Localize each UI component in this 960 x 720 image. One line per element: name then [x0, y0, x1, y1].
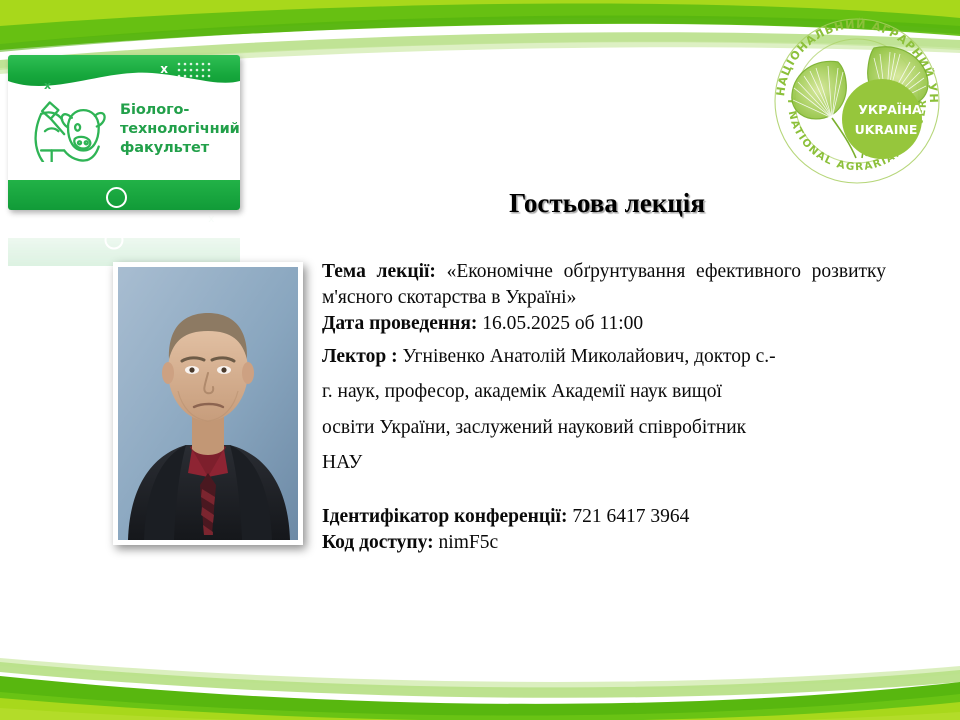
seal-inner-line1: УКРАЇНА	[858, 102, 922, 117]
conference-id-row: Ідентифікатор конференції: 721 6417 3964	[322, 504, 886, 530]
portrait-artwork	[118, 267, 298, 540]
lecture-info-block: Тема лекції: «Економічне обґрунтування е…	[322, 259, 886, 556]
page-title: Гостьова лекція	[322, 188, 892, 219]
faculty-logo: x x x	[8, 55, 240, 210]
reflection-shape: x	[8, 208, 240, 266]
lecturer-line-2: г. наук, професор, академік Академії нау…	[322, 374, 886, 409]
faculty-logo-line1: Біолого-	[120, 101, 232, 120]
seal-inner-circle	[842, 79, 922, 159]
conference-id-value: 721 6417 3964	[572, 506, 689, 527]
faculty-logo-line3: факультет	[120, 139, 232, 158]
date-label: Дата проведення:	[322, 313, 477, 334]
portrait-image	[118, 267, 298, 540]
lecturer-line-4: НАУ	[322, 445, 886, 480]
university-seal-logo: СУМСЬКИЙ НАЦІОНАЛЬНИЙ АГРАРНИЙ УНІВЕРСИТ…	[762, 6, 952, 196]
seal-svg: СУМСЬКИЙ НАЦІОНАЛЬНИЙ АГРАРНИЙ УНІВЕРСИТ…	[762, 6, 952, 196]
faculty-logo-text: Біолого- технологічний факультет	[120, 101, 232, 158]
slide-canvas: x x x	[0, 0, 960, 720]
lecturer-paragraph: Лектор : Угнівенко Анатолій Миколайович,…	[322, 339, 886, 481]
lecturer-line-3: освіти України, заслужений науковий спів…	[322, 410, 886, 445]
conference-id-label: Ідентифікатор конференції:	[322, 506, 567, 527]
logo-dot-grid	[176, 61, 218, 83]
bottom-decoration-swoosh	[0, 610, 960, 720]
lecturer-label: Лектор :	[322, 346, 398, 367]
date-paragraph: Дата проведення: 16.05.2025 об 11:00	[322, 311, 886, 337]
topic-paragraph: Тема лекції: «Економічне обґрунтування е…	[322, 259, 886, 311]
faculty-logo-card: x x x	[8, 55, 240, 210]
lecturer-line-1: Лектор : Угнівенко Анатолій Миколайович,…	[322, 339, 886, 374]
topic-label: Тема лекції:	[322, 261, 436, 282]
access-code-label: Код доступу:	[322, 532, 434, 553]
logo-ring-icon	[106, 187, 127, 208]
logo-x-mark-white-top: x	[160, 62, 168, 76]
lecturer-name-and-degree: Угнівенко Анатолій Миколайович, доктор с…	[402, 346, 775, 367]
seal-inner-line2: UKRAINE	[855, 122, 918, 137]
conference-details: Ідентифікатор конференції: 721 6417 3964…	[322, 504, 886, 556]
faculty-logo-reflection: x	[8, 208, 240, 266]
lecturer-portrait-photo	[113, 262, 303, 545]
date-value: 16.05.2025 об 11:00	[482, 313, 643, 334]
ginkgo-leaf-left	[792, 61, 846, 119]
faculty-logo-line2: технологічний	[120, 120, 232, 139]
svg-text:x: x	[208, 213, 215, 226]
access-code-row: Код доступу: nimF5c	[322, 530, 886, 556]
access-code-value: nimF5c	[439, 532, 499, 553]
